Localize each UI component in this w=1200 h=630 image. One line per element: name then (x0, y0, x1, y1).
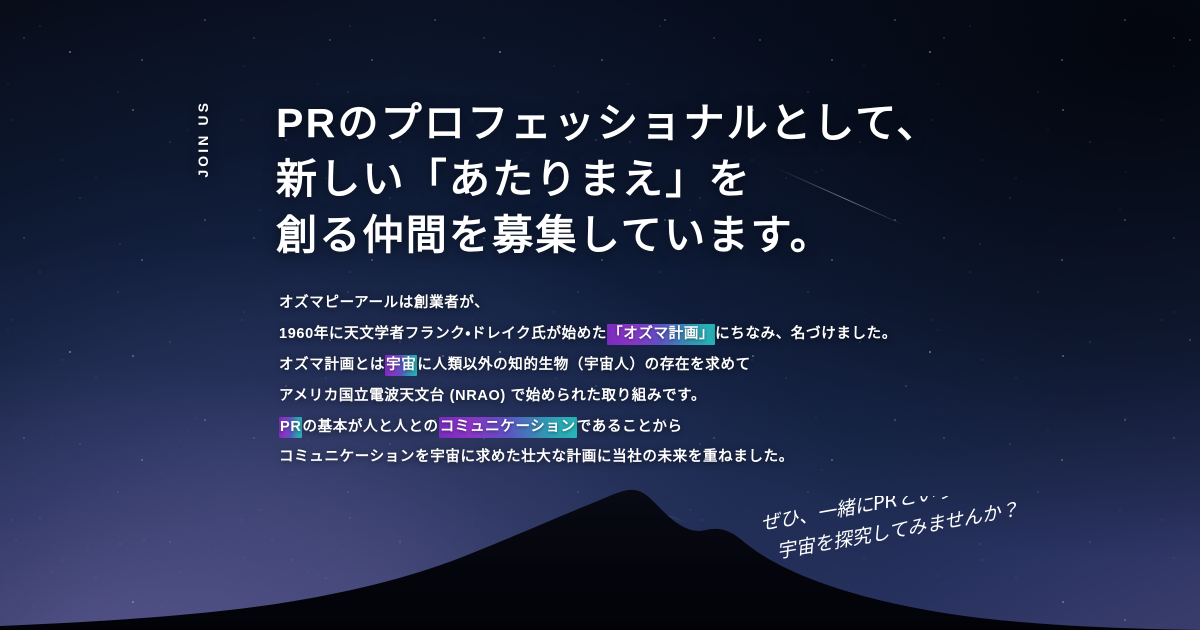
highlighted-term: 宇宙 (385, 355, 417, 376)
body-copy-text: に人類以外の知的生物（宇宙人）の存在を求めて (417, 357, 750, 373)
body-copy-line: PRの基本が人と人とのコミュニケーションであることから (279, 412, 1159, 443)
body-copy-line: 1960年に天文学者フランク・ドレイク氏が始めた「オズマ計画」にちなみ、名づけま… (279, 319, 1159, 350)
body-copy-text: アメリカ国立電波天文台 (NRAO) で始められた取り組みです。 (279, 388, 706, 404)
highlighted-term: 「オズマ計画」 (607, 324, 715, 345)
highlighted-term: PR (279, 417, 302, 438)
body-copy-text: オズマピーアールは創業者が、 (279, 295, 489, 311)
body-copy-text: オズマ計画とは (279, 357, 385, 373)
body-copy-text: にちなみ、名づけました。 (715, 326, 897, 342)
body-copy-text: であることから (577, 419, 683, 435)
headline-line-1: PRのプロフェッショナルとして、 (276, 96, 1156, 152)
body-copy-line: オズマピーアールは創業者が、 (279, 288, 1159, 319)
page-title: PRのプロフェッショナルとして、 新しい「あたりまえ」を 創る仲間を募集していま… (276, 96, 1156, 263)
headline-line-2: 新しい「あたりまえ」を (276, 152, 1156, 208)
handwritten-tagline: ぜひ、一緒にPRという 宇宙を探究してみませんか？ (756, 496, 1076, 562)
shooting-star-icon-secondary (602, 494, 688, 523)
highlighted-term: コミュニケーション (439, 417, 577, 438)
body-copy-text: コミュニケーションを宇宙に求めた壮大な計画に当社の未来を重ねました。 (279, 449, 794, 465)
body-copy-line: アメリカ国立電波天文台 (NRAO) で始められた取り組みです。 (279, 381, 1159, 412)
handwritten-line-2: 宇宙を探究してみませんか？ (775, 499, 1021, 562)
hero-banner: JOIN US PRのプロフェッショナルとして、 新しい「あたりまえ」を 創る仲… (0, 0, 1200, 630)
body-copy-line: オズマ計画とは宇宙に人類以外の知的生物（宇宙人）の存在を求めて (279, 350, 1159, 381)
handwritten-line-1: ぜひ、一緒にPRという (759, 496, 956, 535)
body-copy-text: 1960年に天文学者フランク・ドレイク氏が始めた (279, 326, 607, 342)
body-copy: オズマピーアールは創業者が、1960年に天文学者フランク・ドレイク氏が始めた「オ… (279, 288, 1159, 473)
headline-line-3: 創る仲間を募集しています。 (276, 208, 1156, 264)
body-copy-line: コミュニケーションを宇宙に求めた壮大な計画に当社の未来を重ねました。 (279, 442, 1159, 473)
body-copy-text: の基本が人と人との (302, 419, 438, 435)
kicker-join-us: JOIN US (195, 100, 211, 178)
